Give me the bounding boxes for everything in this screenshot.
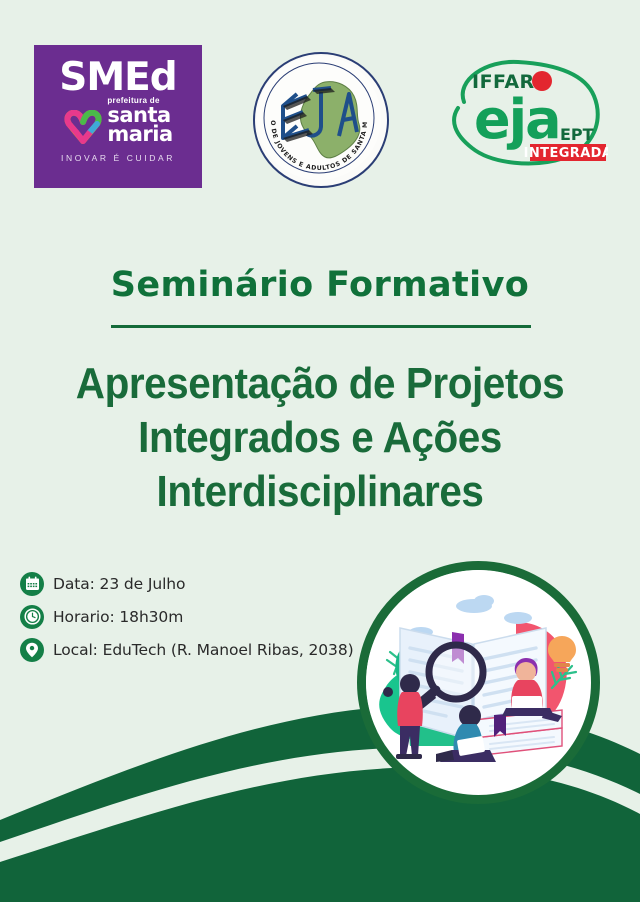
main-title-line-1: Apresentação de Projetos [26,357,615,411]
detail-row-location: Local: EduTech (R. Manoel Ribas, 2038) [20,634,360,665]
calendar-icon [20,572,44,596]
clock-icon [20,605,44,629]
location-pin-icon [20,638,44,662]
detail-row-date: Data: 23 de Julho [20,568,360,599]
smed-wordmark: SMEd [59,59,176,97]
seminar-heading: Seminário Formativo [0,265,640,305]
smed-city-block: prefeitura de santa maria [63,100,172,144]
smed-slogan: INOVAR É CUIDAR [61,153,175,163]
main-title: Apresentação de Projetos Integrados e Aç… [26,357,615,519]
smed-maria-label: maria [107,125,172,144]
detail-row-time: Horario: 18h30m [20,601,360,632]
main-title-line-2: Integrados e Ações [26,411,615,465]
iffar-ept-label: EPT [560,125,594,144]
detail-text-location: Local: EduTech (R. Manoel Ribas, 2038) [53,641,354,659]
education-illustration [357,561,600,804]
poster-canvas: SMEd prefeitura de santa maria [0,0,640,902]
heart-icon [63,110,103,144]
heading-divider [111,325,531,328]
detail-text-time: Horario: 18h30m [53,608,183,626]
eja-seal-logo: EDUCAÇÃO DE JOVENS E ADULTOS DE SANTA MA… [253,52,389,188]
smed-city-text: prefeitura de santa maria [107,97,172,144]
iffar-eja-label: eja [474,88,560,151]
integrada-label: INTEGRADA [524,146,608,161]
iffar-eja-ept-logo: IFFAR eja EPT INTEGRADA [434,56,608,180]
detail-text-date: Data: 23 de Julho [53,575,185,593]
event-details: Data: 23 de Julho Horario: 18h30m [20,568,360,667]
main-title-line-3: Interdisciplinares [26,465,615,519]
smed-logo: SMEd prefeitura de santa maria [34,45,202,188]
logo-row: SMEd prefeitura de santa maria [0,42,640,192]
